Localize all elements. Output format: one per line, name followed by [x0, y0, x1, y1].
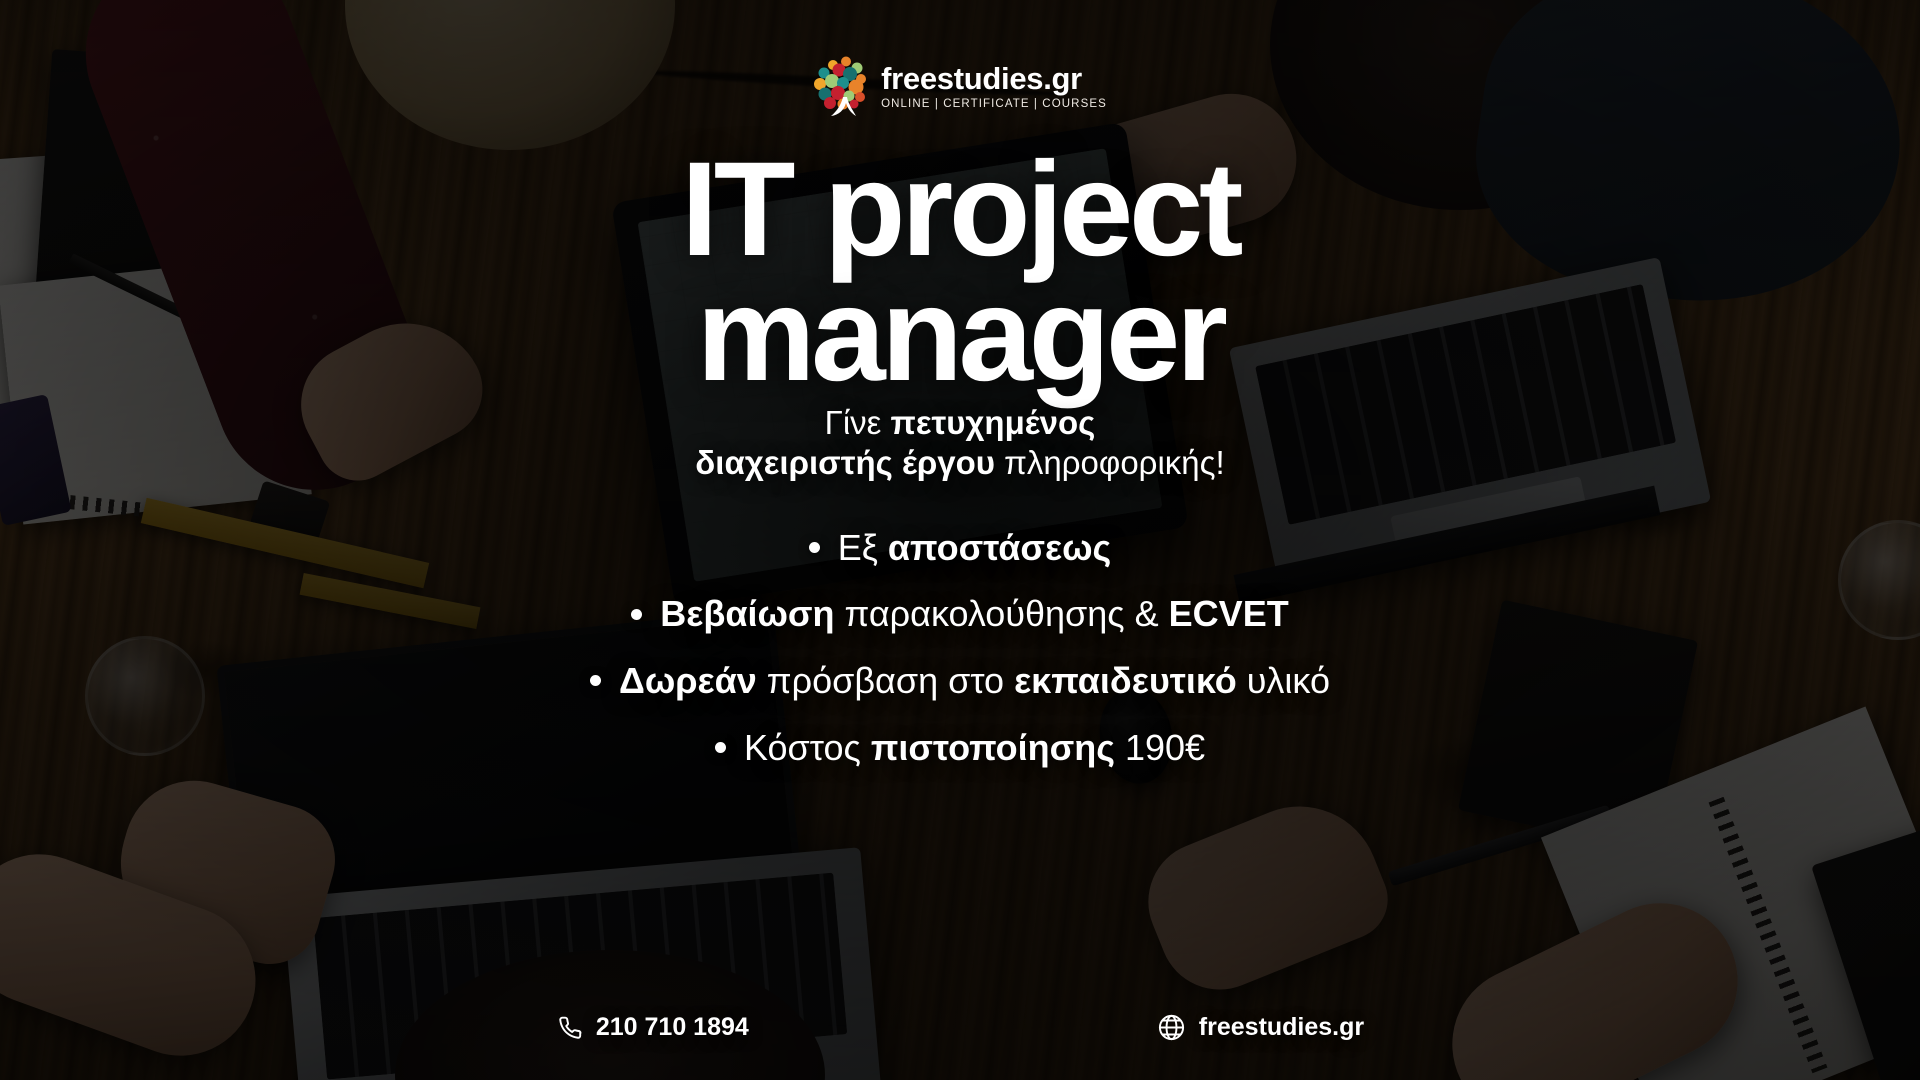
brand-name: freestudies.gr [881, 63, 1107, 94]
promo-banner: freestudies.gr ONLINE | CERTIFICATE | CO… [0, 0, 1920, 1080]
list-item: Κόστος πιστοποίησης 190€ [715, 728, 1205, 768]
list-item-segment: Δωρεάν [619, 660, 757, 701]
subtitle-suffix: πληροφορικής! [995, 444, 1225, 481]
headline-line-2: manager [696, 260, 1223, 409]
brand-logo[interactable]: freestudies.gr ONLINE | CERTIFICATE | CO… [813, 56, 1107, 118]
list-item-segment: πιστοποίησης [871, 727, 1115, 768]
subtitle-bold-2: διαχειριστής έργου [695, 444, 995, 481]
contact-footer: 210 710 1894 freestudies.gr [0, 1013, 1920, 1042]
bullet-dot-icon [715, 742, 726, 753]
brand-logo-text: freestudies.gr ONLINE | CERTIFICATE | CO… [881, 63, 1107, 111]
list-item: Δωρεάν πρόσβαση στο εκπαιδευτικό υλικό [590, 661, 1330, 701]
list-item-segment: πρόσβαση στο [757, 660, 1014, 701]
list-item: Βεβαίωση παρακολούθησης & ECVET [631, 594, 1288, 634]
website-url: freestudies.gr [1199, 1013, 1364, 1042]
banner-content: freestudies.gr ONLINE | CERTIFICATE | CO… [0, 0, 1920, 1080]
subtitle-prefix: Γίνε [825, 404, 891, 441]
list-item: Εξ αποστάσεως [809, 528, 1112, 568]
list-item-segment: Εξ [838, 527, 888, 568]
list-item-segment: ECVET [1169, 593, 1289, 634]
list-item-segment: Κόστος [744, 727, 871, 768]
colorful-tree-icon [813, 56, 869, 118]
globe-icon [1157, 1013, 1186, 1042]
list-item-label: Βεβαίωση παρακολούθησης & ECVET [660, 594, 1288, 634]
list-item-segment: Βεβαίωση [660, 593, 834, 634]
list-item-label: Εξ αποστάσεως [838, 528, 1112, 568]
subtitle-bold-1: πετυχημένος [891, 404, 1096, 441]
phone-handset-icon [556, 1014, 583, 1041]
bullet-dot-icon [590, 675, 601, 686]
brand-tagline: ONLINE | CERTIFICATE | COURSES [881, 99, 1107, 111]
list-item-segment: εκπαιδευτικό [1014, 660, 1237, 701]
website-contact[interactable]: freestudies.gr [1157, 1013, 1364, 1042]
phone-contact[interactable]: 210 710 1894 [556, 1013, 749, 1042]
phone-number: 210 710 1894 [596, 1013, 749, 1042]
page-title: IT project manager [681, 148, 1239, 397]
list-item-segment: παρακολούθησης & [835, 593, 1169, 634]
list-item-segment: 190€ [1115, 727, 1205, 768]
list-item-segment: αποστάσεως [888, 527, 1111, 568]
list-item-segment: υλικό [1237, 660, 1330, 701]
bullet-dot-icon [809, 542, 820, 553]
bullet-dot-icon [631, 609, 642, 620]
page-subtitle: Γίνε πετυχημένοςδιαχειριστής έργου πληρο… [695, 403, 1224, 484]
feature-list: Εξ αποστάσεωςΒεβαίωση παρακολούθησης & E… [590, 528, 1330, 767]
list-item-label: Κόστος πιστοποίησης 190€ [744, 728, 1205, 768]
list-item-label: Δωρεάν πρόσβαση στο εκπαιδευτικό υλικό [619, 661, 1330, 701]
